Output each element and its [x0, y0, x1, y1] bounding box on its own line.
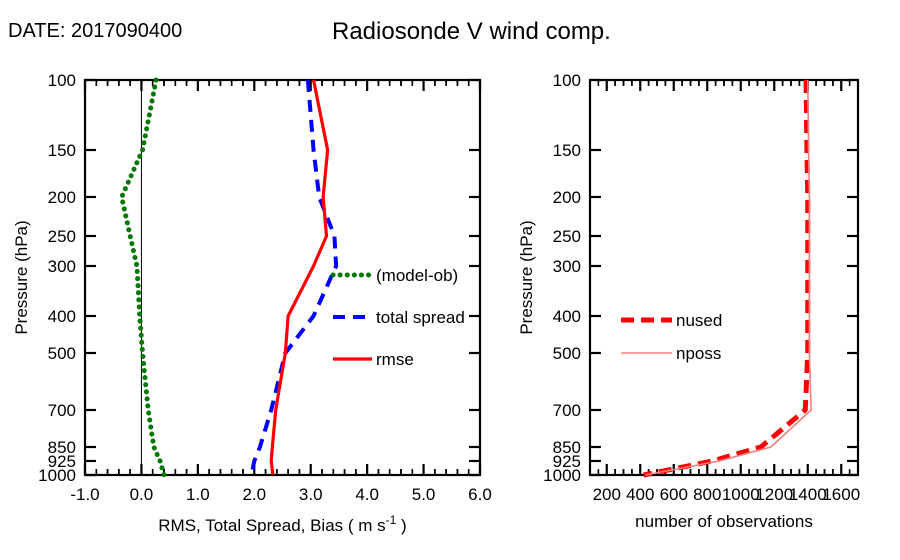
left-xticklabel: 3.0: [299, 485, 323, 504]
left-yticklabel: 150: [48, 141, 76, 160]
right-yticklabel: 150: [553, 141, 581, 160]
left-yticklabel: 400: [48, 307, 76, 326]
right-xticklabel: 1000: [722, 485, 760, 504]
right-xaxis-label: number of observations: [635, 512, 813, 531]
left-yticklabel: 200: [48, 188, 76, 207]
left-xticklabel: 0.0: [130, 485, 154, 504]
right-yticklabel: 100: [553, 71, 581, 90]
left-xaxis-label: RMS, Total Spread, Bias ( m s-1 ): [158, 513, 406, 535]
left-series-rmse: [271, 80, 327, 475]
right-legend-label-nused: nused: [676, 311, 722, 330]
right-yticklabel: 250: [553, 227, 581, 246]
right-series-nused: [644, 80, 808, 475]
right-yticklabel: 400: [553, 307, 581, 326]
right-xticklabel: 400: [626, 485, 654, 504]
right-xticklabel: 1400: [789, 485, 827, 504]
right-yticklabel: 300: [553, 257, 581, 276]
right-yaxis-label: Pressure (hPa): [517, 220, 536, 334]
right-plot-frame: [590, 80, 858, 475]
right-xticklabel: 200: [593, 485, 621, 504]
left-yticklabel: 700: [48, 401, 76, 420]
right-xticklabel: 600: [660, 485, 688, 504]
left-yticklabel: 300: [48, 257, 76, 276]
left-yticklabel: 500: [48, 344, 76, 363]
left-yaxis-label: Pressure (hPa): [12, 220, 31, 334]
left-xticklabel: 4.0: [355, 485, 379, 504]
left-xticklabel: 5.0: [412, 485, 436, 504]
left-xticklabel: 2.0: [242, 485, 266, 504]
left-legend-label-rmse: rmse: [376, 350, 414, 369]
left-yticklabel: 1000: [38, 466, 76, 485]
right-yticklabel: 500: [553, 344, 581, 363]
right-legend-label-nposs: nposs: [676, 344, 721, 363]
right-yticklabel: 200: [553, 188, 581, 207]
right-xticklabel: 1600: [822, 485, 860, 504]
right-yticklabel: 1000: [543, 466, 581, 485]
left-legend-label-totalspread: total spread: [376, 308, 465, 327]
right-series-nposs: [645, 80, 811, 475]
left-xticklabel: -1.0: [70, 485, 99, 504]
right-yticklabel: 700: [553, 401, 581, 420]
figure-root: DATE: 2017090400 Radiosonde V wind comp.…: [0, 0, 900, 560]
left-yticklabel: 250: [48, 227, 76, 246]
left-xticklabel: 6.0: [468, 485, 492, 504]
plot-canvas: -1.00.01.02.03.04.05.06.0100150200250300…: [0, 0, 900, 560]
left-xticklabel: 1.0: [186, 485, 210, 504]
left-series-totalspread: [251, 80, 336, 475]
left-yticklabel: 100: [48, 71, 76, 90]
left-legend-label-modelob: (model-ob): [376, 266, 458, 285]
right-xticklabel: 1200: [755, 485, 793, 504]
left-series-modelob: [122, 80, 164, 475]
right-xticklabel: 800: [693, 485, 721, 504]
